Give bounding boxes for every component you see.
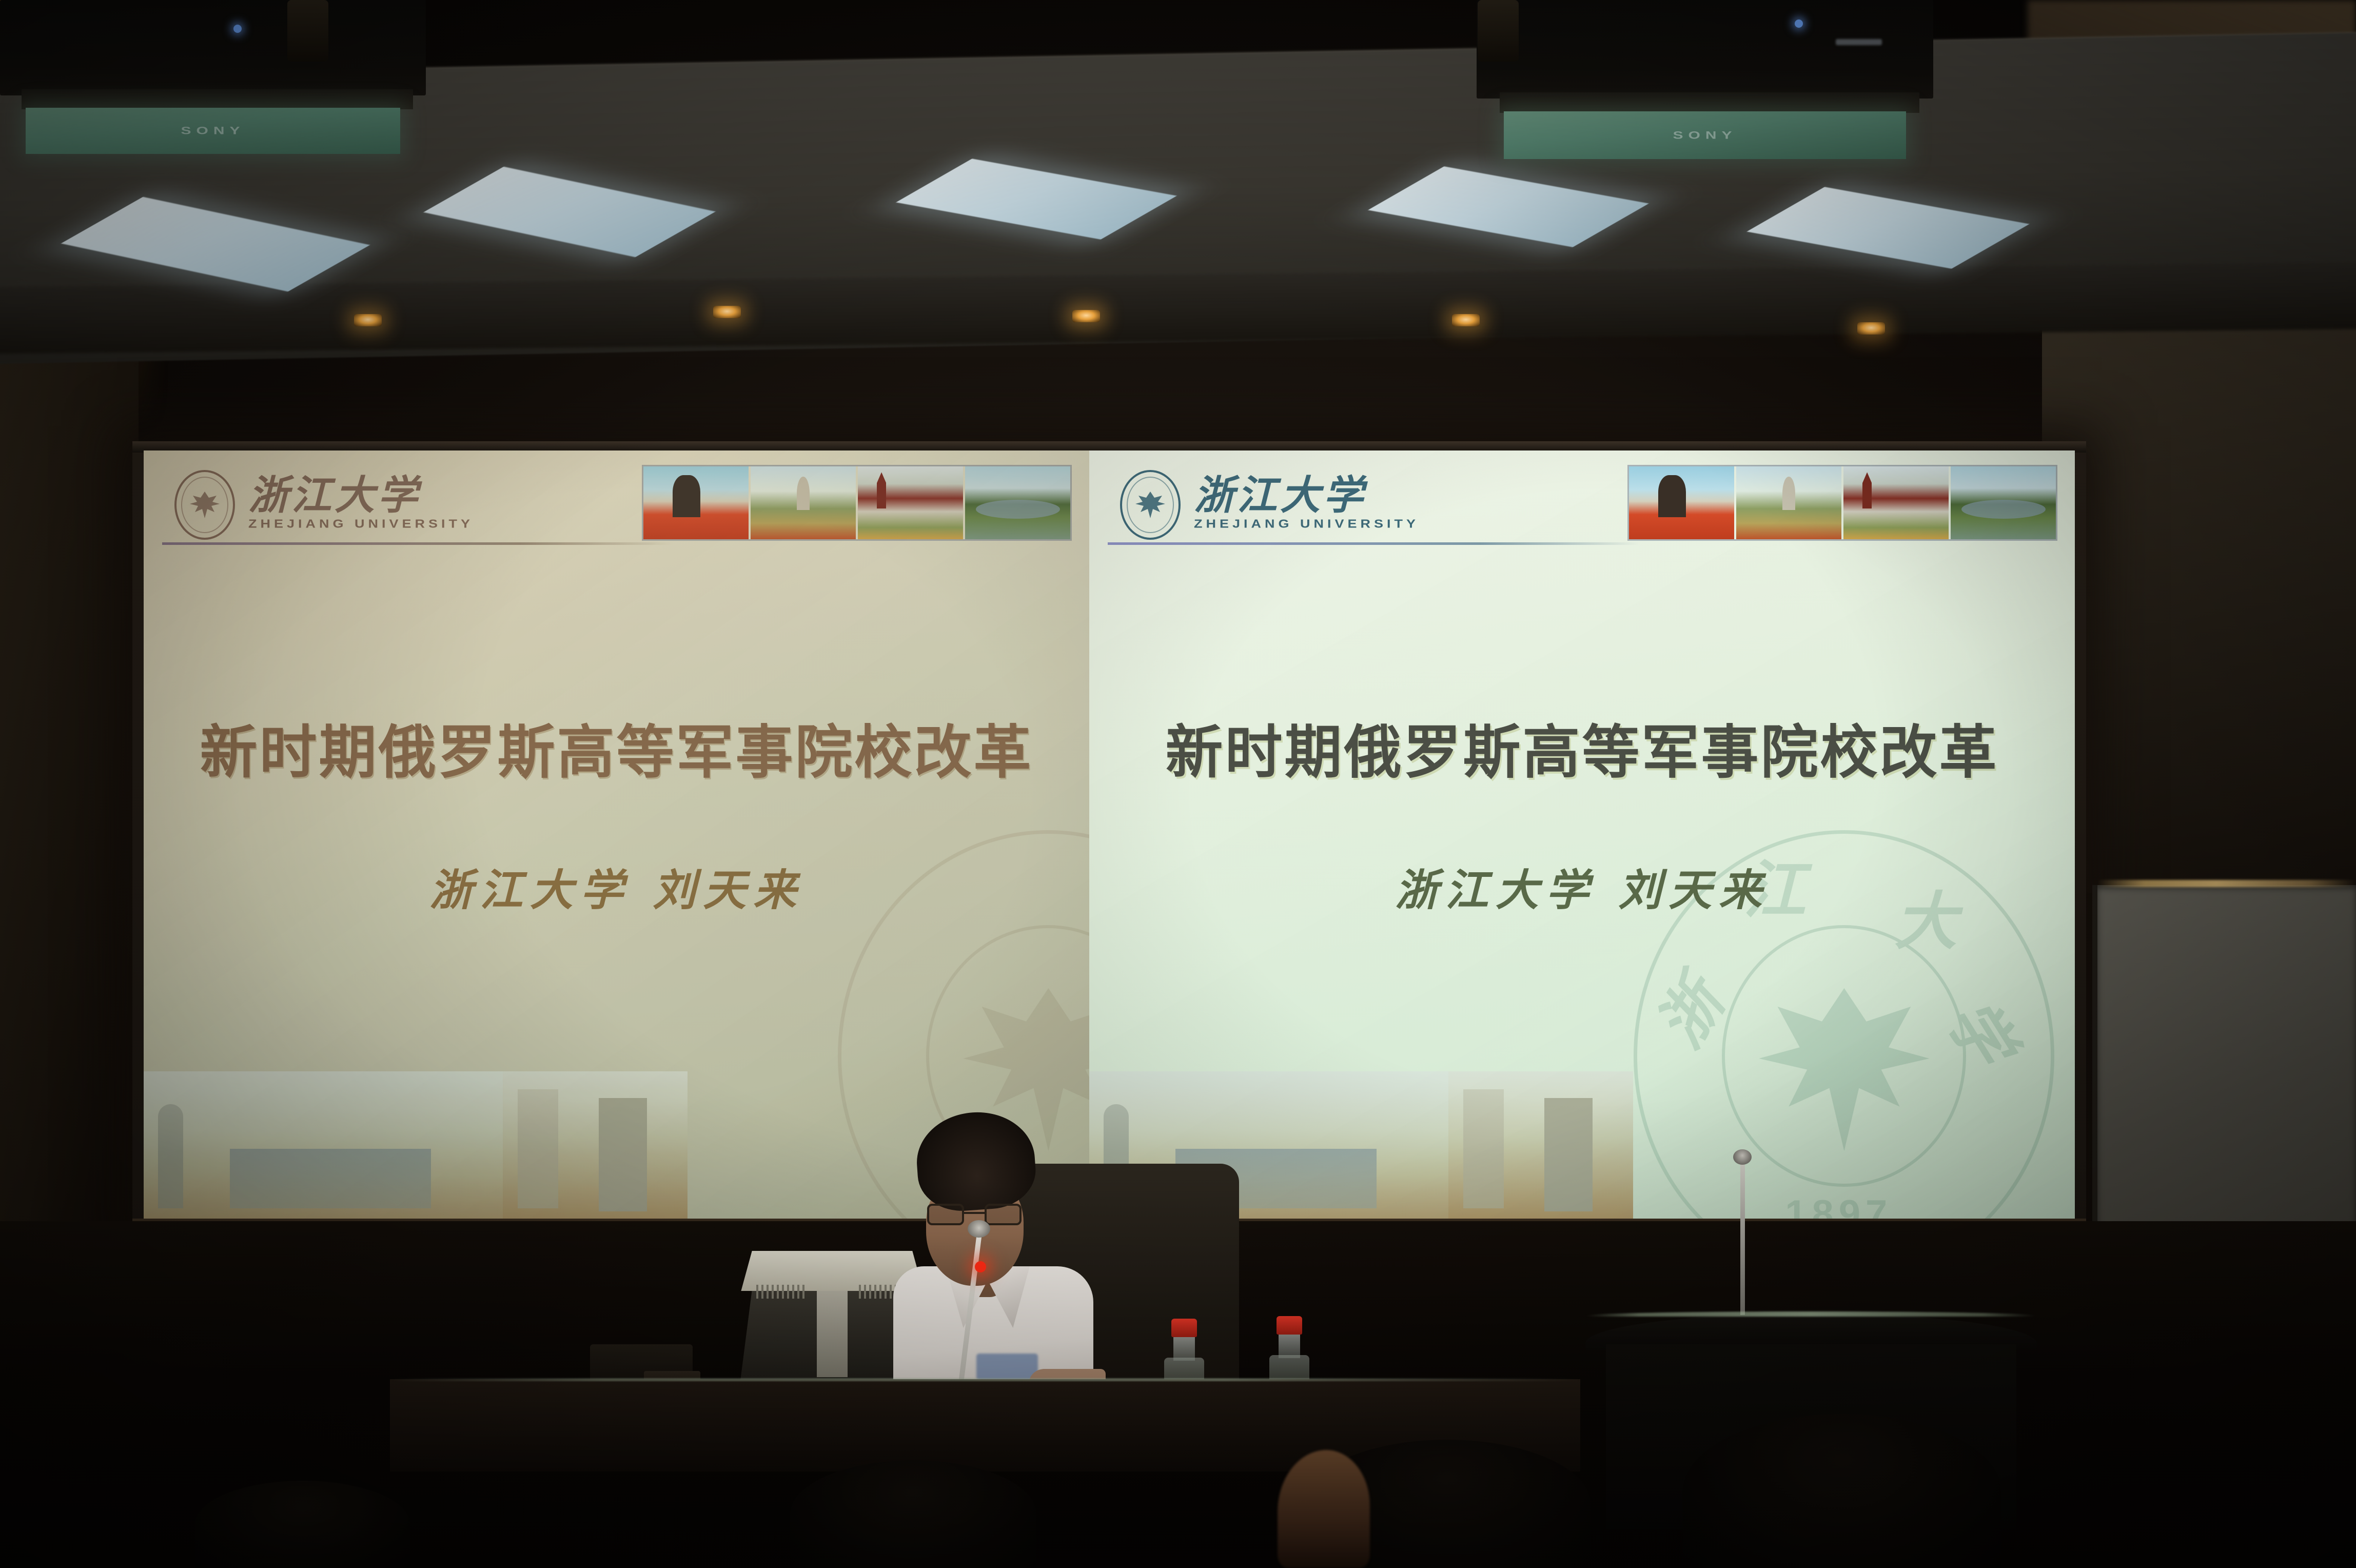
zju-name-en: ZHEJIANG UNIVERSITY: [248, 517, 474, 531]
zju-name-cn: 浙江大学: [1194, 477, 1419, 515]
banner-photo: [1951, 466, 2056, 539]
banner-photo: [1629, 466, 1734, 539]
ceiling-downlight: [1072, 310, 1100, 322]
zju-wordmark: 浙江大学 ZHEJIANG UNIVERSITY: [248, 477, 474, 533]
projection-panel-right: 浙江大学 ZHEJIANG UNIVERSITY: [1089, 450, 2075, 1220]
zju-wordmark: 浙江大学 ZHEJIANG UNIVERSITY: [1194, 477, 1419, 533]
slide-footer-photos: [144, 1071, 688, 1220]
whiteboard-top-highlight: [2097, 880, 2356, 887]
ceiling-projector-left: SONY: [0, 0, 426, 154]
footer-photo: [1448, 1071, 1633, 1220]
slide-title: 新时期俄罗斯高等军事院校改革: [1089, 706, 2075, 789]
projector-status-led: [233, 25, 242, 33]
projector-lip: [22, 89, 414, 109]
eagle-icon: [188, 489, 222, 520]
bottle-neck: [1173, 1336, 1195, 1361]
footer-photo: [503, 1071, 688, 1220]
bottle-cap: [1171, 1319, 1197, 1337]
slide-title: 新时期俄罗斯高等军事院校改革: [144, 706, 1089, 789]
seal-char: 学: [1930, 978, 2040, 1080]
mic-status-led: [975, 1261, 986, 1272]
zju-seal-icon: [1120, 470, 1181, 540]
glasses-bridge: [964, 1212, 985, 1214]
glasses-lens: [985, 1204, 1022, 1225]
banner-photo: [1736, 466, 1841, 539]
wall-panel-right: [2042, 287, 2356, 893]
projector-housing: [0, 0, 426, 95]
eagle-icon: [1752, 970, 1937, 1169]
projector-lip: [1500, 92, 1920, 113]
wall-panel-left: [0, 328, 139, 1252]
presenter-hair: [914, 1108, 1038, 1214]
eagle-icon: [1133, 489, 1167, 520]
projector-brand-label: SONY: [181, 125, 245, 137]
presenter-table-edge: [390, 1378, 1580, 1381]
audience-silhouette: [1683, 1414, 2001, 1568]
projector-indicator-strip: [1836, 39, 1882, 45]
banner-photo: [751, 466, 856, 539]
ceiling-projector-right: SONY: [1477, 0, 1933, 159]
masthead-divider: [162, 542, 673, 545]
monitor-stand-neck: [817, 1282, 847, 1377]
slide-subtitle: 浙江大学 刘天来: [1089, 856, 2075, 918]
footer-photo: [144, 1071, 503, 1220]
banner-photo: [965, 466, 1070, 539]
audience-hand: [1278, 1450, 1370, 1568]
projector-mount-right: [1478, 0, 1519, 62]
projector-mount-left: [287, 0, 328, 62]
seal-year: 1897: [1785, 1192, 1892, 1220]
masthead-divider: [1108, 542, 1640, 545]
campus-banner-photos: [1627, 465, 2057, 541]
ceiling-downlight: [354, 314, 382, 326]
glasses-lens: [927, 1204, 964, 1225]
ceiling-downlight: [1452, 314, 1480, 326]
projector-status-led: [1795, 19, 1803, 28]
banner-photo: [643, 466, 749, 539]
banner-photo: [1843, 466, 1949, 539]
lectern-top-highlight: [1585, 1311, 2037, 1317]
lecture-hall-scene: SONY SONY: [0, 0, 2356, 1568]
ceiling-downlight: [713, 306, 741, 318]
zju-logo: 浙江大学 ZHEJIANG UNIVERSITY: [174, 470, 474, 540]
zju-name-en: ZHEJIANG UNIVERSITY: [1194, 517, 1419, 531]
audience-silhouette: [790, 1460, 1036, 1568]
zju-seal-icon: [174, 470, 235, 540]
slide-masthead: 浙江大学 ZHEJIANG UNIVERSITY: [144, 465, 1089, 547]
podium-gooseneck-mic[interactable]: [1740, 1160, 1745, 1329]
banner-photo: [858, 466, 963, 539]
projection-screen-surface: 浙江大学 ZHEJIANG UNIVERSITY: [144, 450, 2075, 1220]
zju-logo: 浙江大学 ZHEJIANG UNIVERSITY: [1120, 470, 1419, 540]
projector-brand-label: SONY: [1673, 129, 1737, 141]
seal-inner-ring: [1722, 925, 1966, 1187]
zju-name-cn: 浙江大学: [248, 477, 474, 515]
projection-panel-left: 浙江大学 ZHEJIANG UNIVERSITY: [144, 450, 1089, 1220]
presenter-shirt-logo: [976, 1354, 1038, 1380]
bottle-neck: [1279, 1334, 1300, 1358]
monitor-vent: [756, 1285, 806, 1299]
slide-masthead: 浙江大学 ZHEJIANG UNIVERSITY: [1089, 465, 2075, 547]
desk-mic-capsule: [968, 1220, 990, 1238]
ceiling-downlight: [1857, 322, 1885, 335]
audience-silhouette: [195, 1481, 410, 1568]
campus-banner-photos: [642, 465, 1072, 541]
projector-lens-face: SONY: [1504, 111, 1906, 159]
seal-char: 浙: [1631, 961, 1741, 1062]
slide-subtitle: 浙江大学 刘天来: [144, 856, 1089, 918]
projector-housing: [1477, 0, 1933, 99]
projector-lens-face: SONY: [26, 108, 400, 154]
bottle-cap: [1277, 1316, 1302, 1335]
podium-mic-capsule: [1733, 1149, 1752, 1165]
